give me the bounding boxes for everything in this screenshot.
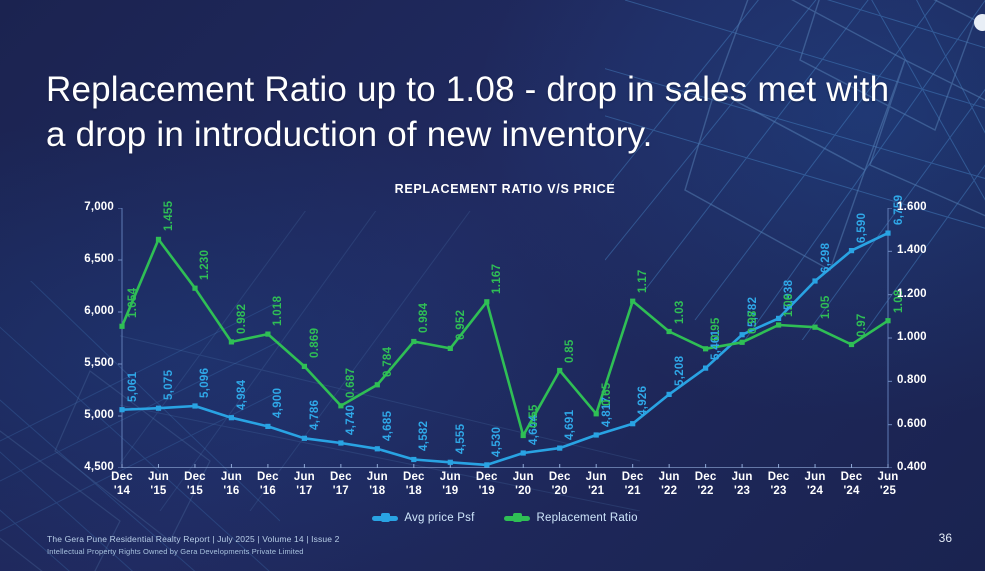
data-label-replacement-ratio: 0.55 (528, 404, 540, 428)
data-label-avg-price: 4,685 (382, 410, 394, 440)
legend-label: Avg price Psf (404, 512, 474, 524)
legend-color-swatch (504, 516, 530, 521)
data-label-avg-price: 4,786 (309, 400, 321, 430)
data-label-replacement-ratio: 0.687 (345, 368, 357, 398)
y-axis-left-tick: 6,000 (60, 305, 114, 317)
footer-rights-line: Intellectual Property Rights Owned by Ge… (47, 546, 340, 557)
chart-title: REPLACEMENT RATIO V/S PRICE (60, 182, 950, 196)
data-label-avg-price: 4,555 (455, 424, 467, 454)
data-label-avg-price: 5,061 (127, 371, 139, 401)
data-label-avg-price: 5,075 (163, 370, 175, 400)
data-label-avg-price: 4,740 (345, 405, 357, 435)
legend-label: Replacement Ratio (536, 512, 637, 524)
data-label-replacement-ratio: 1.167 (491, 264, 503, 294)
data-label-avg-price: 4,691 (564, 410, 576, 440)
y-axis-left-tick: 5,000 (60, 409, 114, 421)
data-label-replacement-ratio: 0.982 (236, 304, 248, 334)
x-axis-tick-label: Dec '20 (540, 470, 580, 498)
legend-item[interactable]: Avg price Psf (372, 512, 474, 524)
data-label-replacement-ratio: 0.85 (564, 339, 576, 363)
slide-heading: Replacement Ratio up to 1.08 - drop in s… (46, 68, 985, 158)
data-label-replacement-ratio: 1.455 (163, 201, 175, 231)
legend-item[interactable]: Replacement Ratio (504, 512, 637, 524)
x-axis-tick-label: Jun '24 (795, 470, 835, 498)
data-label-replacement-ratio: 0.97 (856, 313, 868, 337)
y-axis-right-tick: 1.000 (897, 331, 927, 343)
x-axis-tick-label: Jun '17 (284, 470, 324, 498)
data-label-replacement-ratio: 1.054 (127, 288, 139, 318)
data-label-avg-price: 4,926 (637, 385, 649, 415)
page-number: 36 (939, 531, 952, 545)
data-label-replacement-ratio: 0.869 (309, 328, 321, 358)
x-axis-tick-label: Jun '16 (211, 470, 251, 498)
data-label-replacement-ratio: 1.06 (783, 293, 795, 317)
x-axis-tick-label: Jun '19 (430, 470, 470, 498)
chart-plot-area: 5,0615,0755,0964,9844,9004,7864,7404,685… (60, 208, 950, 468)
x-axis-tick-label: Dec '14 (102, 470, 142, 498)
y-axis-left-tick: 5,500 (60, 357, 114, 369)
x-axis-tick-label: Dec '17 (321, 470, 361, 498)
slide-footer: The Gera Pune Residential Realty Report … (47, 533, 340, 557)
x-axis-tick-label: Jun '15 (138, 470, 178, 498)
y-axis-right-tick: 1.600 (897, 201, 927, 213)
data-label-avg-price: 4,582 (418, 421, 430, 451)
data-label-avg-price: 5,096 (199, 368, 211, 398)
legend-color-swatch (372, 516, 398, 521)
data-label-avg-price: 4,984 (236, 379, 248, 409)
data-label-replacement-ratio: 0.784 (382, 347, 394, 377)
data-label-replacement-ratio: 0.952 (455, 310, 467, 340)
data-label-replacement-ratio: 1.17 (637, 270, 649, 294)
y-axis-right-tick: 1.400 (897, 244, 927, 256)
x-axis-tick-label: Dec '15 (175, 470, 215, 498)
x-axis-tick-label: Dec '22 (686, 470, 726, 498)
x-axis-tick-label: Jun '21 (576, 470, 616, 498)
data-label-avg-price: 4,900 (272, 388, 284, 418)
data-label-replacement-ratio: 1.05 (820, 296, 832, 320)
data-label-avg-price: 5,208 (674, 356, 686, 386)
chart-container: REPLACEMENT RATIO V/S PRICE 5,0615,0755,… (60, 182, 950, 532)
x-axis-tick-label: Dec '19 (467, 470, 507, 498)
x-axis-tick-label: Jun '18 (357, 470, 397, 498)
y-axis-right-tick: 0.600 (897, 418, 927, 430)
y-axis-right-tick: 0.800 (897, 374, 927, 386)
y-axis-right-tick: 1.200 (897, 288, 927, 300)
x-axis-tick-label: Dec '23 (759, 470, 799, 498)
x-axis-tick-label: Dec '18 (394, 470, 434, 498)
data-label-replacement-ratio: 1.018 (272, 296, 284, 326)
data-label-replacement-ratio: 1.230 (199, 250, 211, 280)
data-label-avg-price: 4,530 (491, 427, 503, 457)
corner-accent-dot (974, 14, 985, 31)
chart-x-axis-labels: Dec '14Jun '15Dec '15Jun '16Dec '16Jun '… (60, 470, 950, 514)
x-axis-tick-label: Jun '20 (503, 470, 543, 498)
x-axis-tick-label: Dec '21 (613, 470, 653, 498)
x-axis-tick-label: Jun '25 (868, 470, 908, 498)
data-label-replacement-ratio: 1.03 (674, 300, 686, 324)
chart-lines-svg (60, 208, 950, 468)
footer-report-line: The Gera Pune Residential Realty Report … (47, 533, 340, 546)
data-label-replacement-ratio: 0.95 (710, 317, 722, 341)
data-label-avg-price: 6,298 (820, 243, 832, 273)
x-axis-tick-label: Dec '24 (832, 470, 872, 498)
y-axis-left-tick: 6,500 (60, 253, 114, 265)
y-axis-left-tick: 7,000 (60, 201, 114, 213)
data-label-replacement-ratio: 0.65 (601, 382, 613, 406)
x-axis-tick-label: Dec '16 (248, 470, 288, 498)
data-label-replacement-ratio: 0.98 (747, 311, 759, 335)
slide-canvas: Replacement Ratio up to 1.08 - drop in s… (0, 0, 985, 571)
data-label-replacement-ratio: 0.984 (418, 303, 430, 333)
data-label-avg-price: 6,590 (856, 212, 868, 242)
chart-legend: Avg price PsfReplacement Ratio (60, 512, 950, 524)
x-axis-tick-label: Jun '22 (649, 470, 689, 498)
x-axis-tick-label: Jun '23 (722, 470, 762, 498)
